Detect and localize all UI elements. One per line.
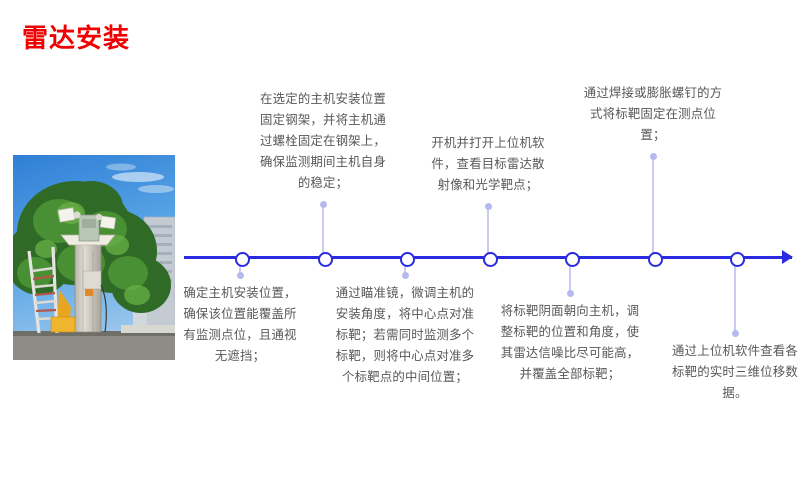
timeline-connector-2 (322, 205, 324, 257)
timeline-caption-2: 在选定的主机安装位置固定钢架，并将主机通过螺栓固定在钢架上，确保监测期间主机自身… (258, 88, 388, 193)
timeline-connector-6 (652, 157, 654, 257)
timeline-caption-7: 通过上位机软件查看各标靶的实时三维位移数据。 (671, 340, 799, 403)
timeline-connector-dot-4 (485, 203, 492, 210)
timeline-node-5[interactable] (565, 252, 580, 267)
timeline-node-3[interactable] (400, 252, 415, 267)
timeline-caption-5: 将标靶阴面朝向主机，调整标靶的位置和角度，使其雷达信噪比尽可能高，并覆盖全部标靶… (500, 300, 640, 384)
photo-illustration (13, 155, 175, 360)
timeline-connector-dot-5 (567, 290, 574, 297)
timeline-connector-dot-7 (732, 330, 739, 337)
timeline-node-2[interactable] (318, 252, 333, 267)
timeline-connector-7 (734, 259, 736, 333)
slide-canvas: 雷达安装 (0, 0, 800, 480)
timeline-connector-dot-1 (237, 272, 244, 279)
timeline-arrow-head (782, 250, 793, 264)
timeline-caption-1: 确定主机安装位置，确保该位置能覆盖所有监测点位，且通视无遮挡； (180, 282, 300, 366)
timeline-node-6[interactable] (648, 252, 663, 267)
timeline-connector-dot-2 (320, 201, 327, 208)
timeline-caption-3: 通过瞄准镜，微调主机的安装角度，将中心点对准标靶；若需同时监测多个标靶，则将中心… (335, 282, 475, 387)
radar-installation-photo (13, 155, 175, 360)
timeline-connector-dot-3 (402, 272, 409, 279)
timeline-node-4[interactable] (483, 252, 498, 267)
timeline-node-1[interactable] (235, 252, 250, 267)
timeline-caption-6: 通过焊接或膨胀螺钉的方式将标靶固定在测点位置； (583, 82, 723, 145)
timeline-connector-4 (487, 207, 489, 257)
page-title: 雷达安装 (22, 25, 130, 54)
timeline-node-7[interactable] (730, 252, 745, 267)
timeline-caption-4: 开机并打开上位机软件，查看目标雷达散射像和光学靶点； (426, 132, 551, 195)
timeline-connector-dot-6 (650, 153, 657, 160)
